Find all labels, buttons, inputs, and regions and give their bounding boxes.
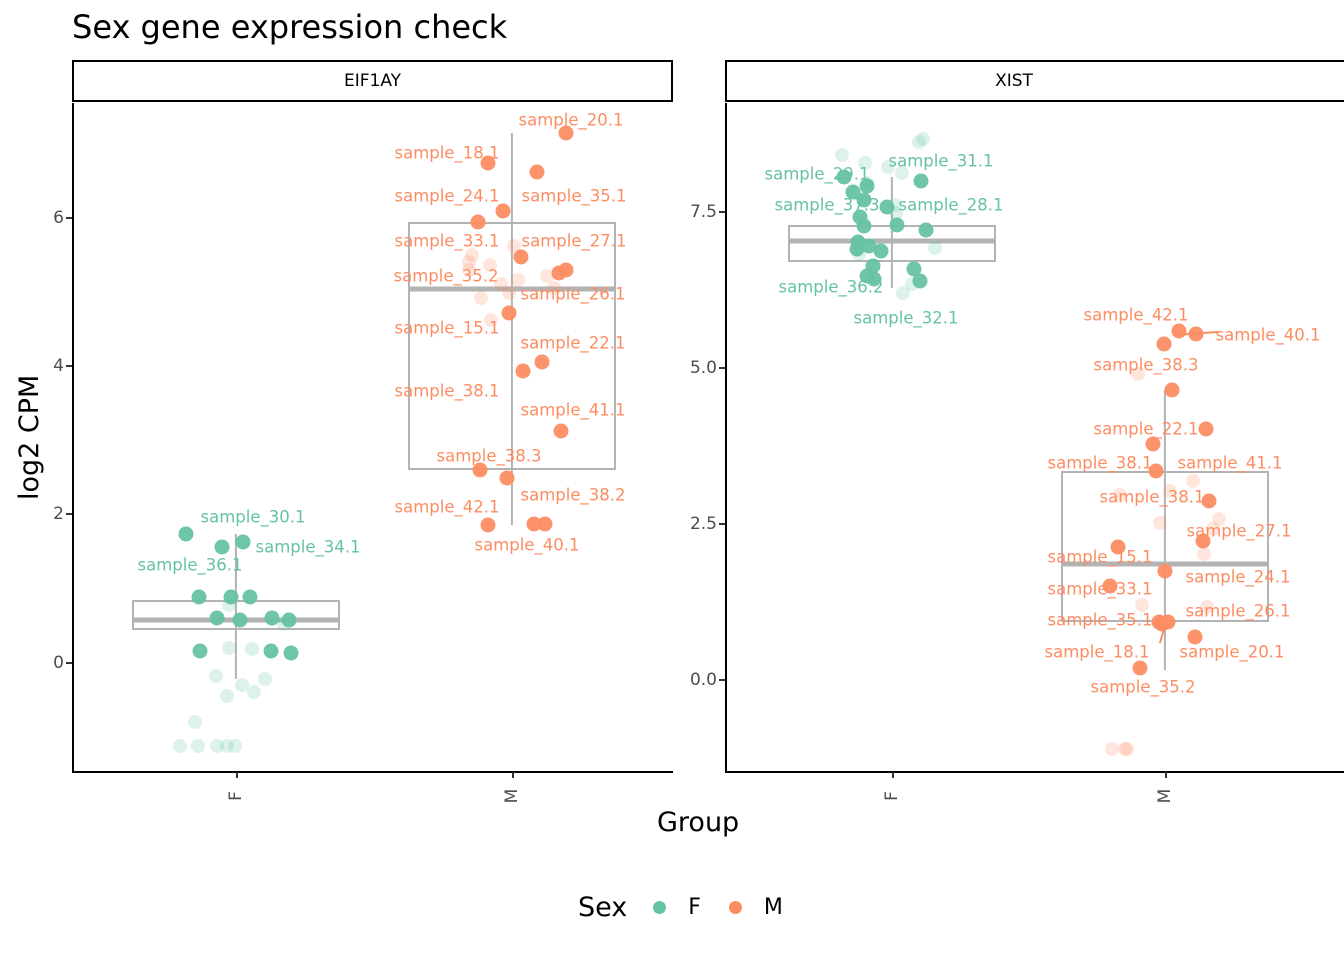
data-point <box>507 239 521 253</box>
data-point <box>914 173 929 188</box>
facet-strip-label: EIF1AY <box>344 71 401 91</box>
chart-root: Sex gene expression check EIF1AY 0246 XI… <box>0 0 1344 960</box>
data-point <box>191 739 205 753</box>
y-tick-label: 4 <box>4 356 64 376</box>
data-point <box>856 218 871 233</box>
data-point <box>179 527 194 542</box>
data-point <box>222 641 236 655</box>
point-label: sample_22.1 <box>1094 420 1199 439</box>
point-label: sample_35.1 <box>1048 611 1153 630</box>
data-point <box>245 642 259 656</box>
data-point <box>1145 436 1160 451</box>
data-point <box>530 164 545 179</box>
data-point <box>1186 474 1200 488</box>
data-point <box>896 286 910 300</box>
x-tick-label: F <box>226 776 246 816</box>
point-label: sample_26.1 <box>1186 602 1291 621</box>
data-point <box>222 598 236 612</box>
data-point <box>501 305 516 320</box>
data-point <box>1158 564 1173 579</box>
facet-strip-label: XIST <box>995 71 1033 91</box>
x-tick-label: M <box>1155 776 1175 816</box>
point-label: sample_35.2 <box>1091 678 1196 697</box>
y-tick-label: 6 <box>4 208 64 228</box>
data-point <box>515 364 530 379</box>
point-label: sample_27.1 <box>522 232 627 251</box>
point-label: sample_40.1 <box>1216 326 1321 345</box>
point-label: sample_35.1 <box>522 187 627 206</box>
data-point <box>499 471 514 486</box>
data-point <box>1105 742 1119 756</box>
point-label: sample_22.1 <box>521 334 626 353</box>
data-point <box>535 354 550 369</box>
data-point <box>284 645 299 660</box>
data-point <box>928 241 942 255</box>
data-point <box>220 739 234 753</box>
data-point <box>873 243 888 258</box>
y-tick-mark <box>66 365 72 367</box>
boxplot-median <box>788 238 996 243</box>
point-label: sample_41.1 <box>521 401 626 420</box>
point-label: sample_36.1 <box>138 556 243 575</box>
point-label: sample_33.1 <box>395 232 500 251</box>
y-tick-label: 0.0 <box>657 670 717 690</box>
legend-key-f[interactable]: F <box>653 895 701 920</box>
legend-label-f: F <box>688 895 701 920</box>
point-label: sample_20.1 <box>519 111 624 130</box>
data-point <box>258 672 272 686</box>
data-point <box>538 516 553 531</box>
y-tick-mark <box>66 513 72 515</box>
data-point <box>471 214 486 229</box>
point-label: sample_38.1 <box>1048 454 1153 473</box>
point-label: sample_30.1 <box>201 508 306 527</box>
y-tick-mark <box>66 217 72 219</box>
y-tick-mark <box>719 211 725 213</box>
legend-key-m[interactable]: M <box>729 895 783 920</box>
point-label: sample_36.2 <box>779 278 884 297</box>
data-point <box>209 669 223 683</box>
y-tick-label: 5.0 <box>657 358 717 378</box>
y-tick-label: 0 <box>4 653 64 673</box>
data-point <box>277 617 291 631</box>
data-point <box>193 644 208 659</box>
data-point <box>553 423 568 438</box>
y-tick-mark <box>719 523 725 525</box>
y-axis-title: log2 CPM <box>14 375 45 500</box>
y-tick-label: 2 <box>4 504 64 524</box>
data-point <box>852 247 866 261</box>
point-label: sample_42.1 <box>1084 306 1189 325</box>
y-tick-label: 7.5 <box>657 202 717 222</box>
point-label: sample_38.1 <box>395 382 500 401</box>
data-point <box>918 222 933 237</box>
point-label: sample_40.1 <box>475 536 580 555</box>
data-point <box>214 539 229 554</box>
x-tick-label: M <box>502 776 522 816</box>
legend: Sex F M <box>578 892 811 923</box>
data-point <box>247 685 261 699</box>
point-label: sample_31.1 <box>889 152 994 171</box>
data-point <box>1153 516 1167 530</box>
x-tick-label: F <box>882 776 902 816</box>
facet-strip-eif1ay: EIF1AY <box>72 60 673 102</box>
data-point <box>209 611 224 626</box>
data-point <box>495 204 510 219</box>
data-point <box>502 286 516 300</box>
point-label: sample_35.2 <box>394 267 499 286</box>
point-label: sample_18.1 <box>1045 643 1150 662</box>
point-label: sample_24.1 <box>1186 568 1291 587</box>
data-point <box>1165 383 1180 398</box>
data-point <box>1199 422 1214 437</box>
y-tick-label: 2.5 <box>657 514 717 534</box>
data-point <box>243 590 258 605</box>
point-label: sample_38.1 <box>1100 488 1205 507</box>
data-point <box>1118 742 1132 756</box>
facet-strip-xist: XIST <box>725 60 1344 102</box>
x-axis-title: Group <box>657 807 739 838</box>
legend-label-m: M <box>764 895 783 920</box>
point-label: sample_38.3 <box>437 447 542 466</box>
data-point <box>188 715 202 729</box>
point-label: sample_24.1 <box>395 187 500 206</box>
point-label: sample_32.1 <box>854 309 959 328</box>
point-label: sample_41.1 <box>1178 454 1283 473</box>
y-tick-mark <box>719 679 725 681</box>
point-label: sample_29.1 <box>765 165 870 184</box>
y-tick-mark <box>719 367 725 369</box>
point-label: sample_20.1 <box>1180 643 1285 662</box>
data-point <box>235 535 250 550</box>
page-title: Sex gene expression check <box>72 8 507 46</box>
point-label: sample_18.1 <box>395 144 500 163</box>
data-point <box>1197 547 1211 561</box>
point-label: sample_38.2 <box>521 486 626 505</box>
data-point <box>1156 337 1171 352</box>
data-point <box>191 590 206 605</box>
legend-dot-f-icon <box>653 901 666 914</box>
point-label: sample_37.3 <box>775 196 880 215</box>
data-point <box>474 291 488 305</box>
data-point <box>233 613 248 628</box>
point-label: sample_15.1 <box>395 319 500 338</box>
data-point <box>173 739 187 753</box>
data-point <box>835 148 849 162</box>
data-point <box>552 265 567 280</box>
point-label: sample_38.3 <box>1094 356 1199 375</box>
data-point <box>264 644 279 659</box>
point-label: sample_33.1 <box>1048 580 1153 599</box>
point-label: sample_28.1 <box>899 196 1004 215</box>
point-label: sample_26.1 <box>521 285 626 304</box>
point-label: sample_27.1 <box>1187 522 1292 541</box>
data-point <box>916 132 930 146</box>
point-label: sample_42.1 <box>395 498 500 517</box>
point-label: sample_34.1 <box>256 538 361 557</box>
data-point <box>480 517 495 532</box>
data-point <box>220 689 234 703</box>
y-tick-mark <box>66 662 72 664</box>
point-label: sample_15.1 <box>1048 548 1153 567</box>
legend-title: Sex <box>578 892 627 923</box>
legend-dot-m-icon <box>729 901 742 914</box>
data-point <box>1132 661 1147 676</box>
